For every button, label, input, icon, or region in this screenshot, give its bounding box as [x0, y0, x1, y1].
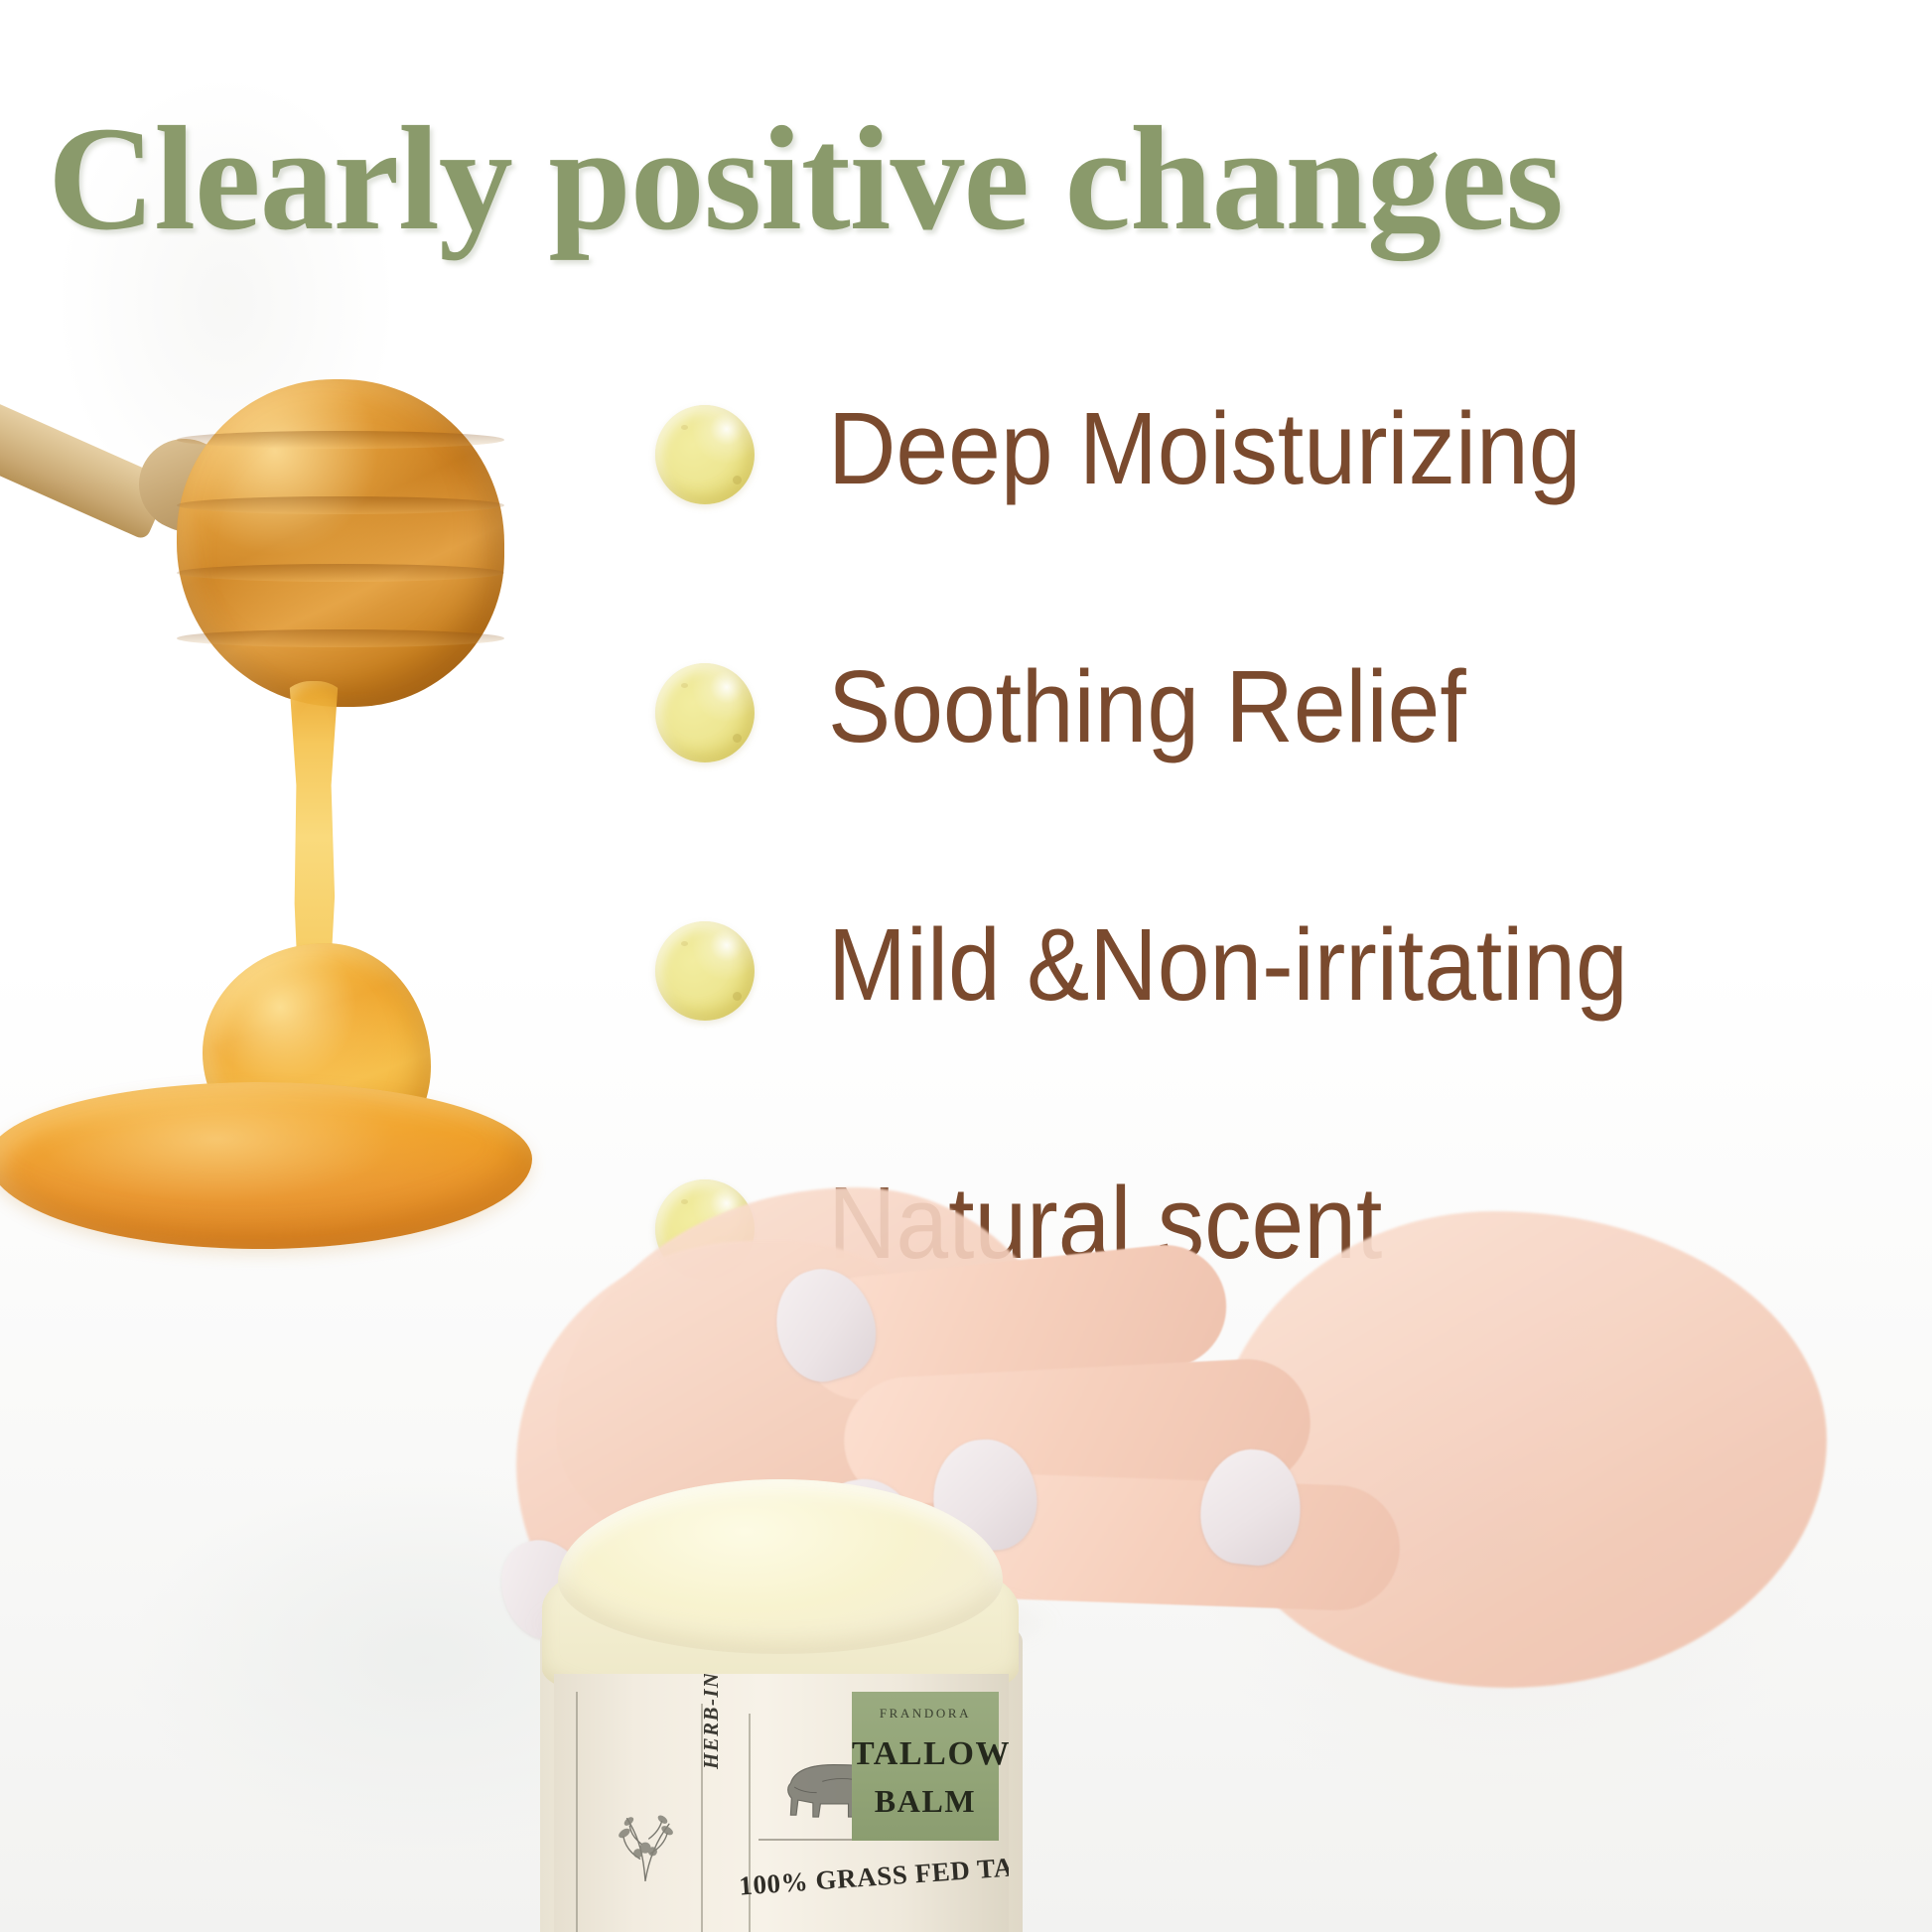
label-green-patch: FRANDORA TALLOW BALM — [852, 1692, 999, 1841]
benefit-item: Deep Moisturizing — [655, 383, 1896, 641]
herb-sprig-icon — [600, 1791, 691, 1886]
honey-dipper-image — [0, 328, 516, 1241]
oil-droplet-icon — [655, 921, 755, 1021]
jar-cream-surface — [558, 1479, 1003, 1654]
dipper-head — [177, 379, 504, 707]
oil-droplet-icon — [655, 405, 755, 504]
benefit-label: Mild &Non-irritating — [828, 899, 1628, 1031]
benefit-label: Soothing Relief — [828, 641, 1466, 772]
product-name-line-2: BALM — [852, 1783, 999, 1820]
product-name-line-1: TALLOW — [852, 1735, 999, 1773]
marketing-poster: Clearly positive changes Deep Moisturizi… — [0, 0, 1932, 1932]
benefit-item: Mild &Non-irritating — [655, 899, 1896, 1158]
benefit-item: Soothing Relief — [655, 641, 1896, 899]
page-title: Clearly positive changes — [48, 103, 1914, 255]
honey-pool — [0, 1082, 532, 1249]
benefit-label: Deep Moisturizing — [828, 383, 1581, 514]
herb-infused-text: HERB-INFUSED — [699, 1674, 724, 1769]
product-jar: HERB-INFUSED 100% GRASS FED TALLOW — [506, 1479, 1062, 1932]
oil-droplet-icon — [655, 663, 755, 762]
hands-and-jar-image: HERB-INFUSED 100% GRASS FED TALLOW — [516, 1152, 1827, 1932]
jar-label: HERB-INFUSED 100% GRASS FED TALLOW — [554, 1674, 1009, 1932]
brand-name: FRANDORA — [852, 1706, 999, 1722]
label-divider — [576, 1692, 578, 1932]
grass-fed-claim: 100% GRASS FED TALLOW — [738, 1846, 1009, 1901]
